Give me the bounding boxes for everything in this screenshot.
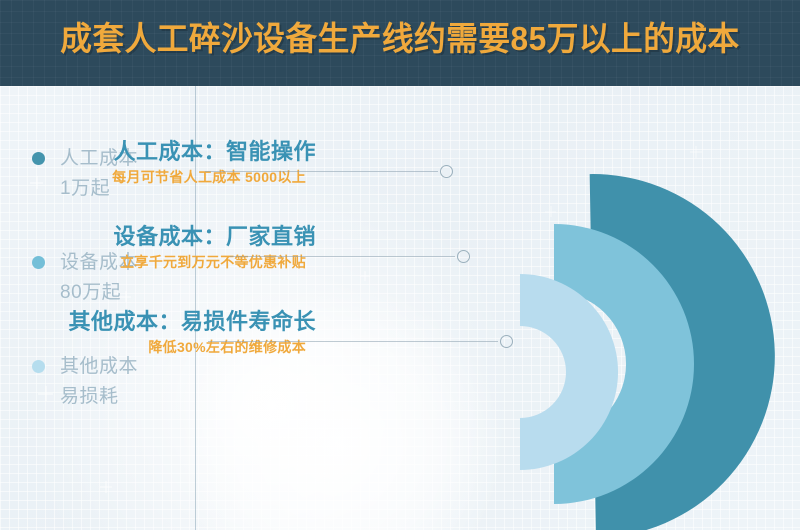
bullet-icon xyxy=(32,360,45,373)
spiral-svg xyxy=(400,86,800,530)
benefit-item-other: 其他成本：易损件寿命长 降低30%左右的维修成本 xyxy=(0,308,370,358)
benefit-title: 人工成本：智能操作 xyxy=(0,138,370,166)
header-banner: 成套人工碎沙设备生产线约需要85万以上的成本 xyxy=(0,0,800,86)
connector-dot-icon xyxy=(500,335,513,348)
spiral-graphic xyxy=(400,86,800,530)
benefit-subtitle: 降低30%左右的维修成本 xyxy=(0,336,370,358)
page-title: 成套人工碎沙设备生产线约需要85万以上的成本 xyxy=(16,17,784,61)
connector-dot-icon xyxy=(440,165,453,178)
connector-dot-icon xyxy=(457,250,470,263)
connector-line xyxy=(208,341,498,342)
sidebar-item-label: 其他成本 易损耗 xyxy=(60,352,192,412)
benefit-item-equipment: 设备成本：厂家直销 立享千元到万元不等优惠补贴 xyxy=(0,223,370,273)
benefit-subtitle: 每月可节省人工成本 5000以上 xyxy=(0,166,370,188)
connector-line xyxy=(230,256,455,257)
benefit-subtitle: 立享千元到万元不等优惠补贴 xyxy=(0,251,370,273)
connector-line xyxy=(205,171,438,172)
benefit-item-labor: 人工成本：智能操作 每月可节省人工成本 5000以上 xyxy=(0,138,370,188)
benefit-title: 设备成本：厂家直销 xyxy=(0,223,370,251)
body-area: 人工成本 1万起 设备成本 80万起 其他成本 易损耗 人工成本：智能操作 每月… xyxy=(0,86,800,530)
footer-slogan: 看红星帮你省钱! xyxy=(222,524,527,530)
sidebar-item-other: 其他成本 易损耗 xyxy=(32,352,192,412)
infographic-poster: 成套人工碎沙设备生产线约需要85万以上的成本 xyxy=(0,0,800,530)
benefit-title: 其他成本：易损件寿命长 xyxy=(0,308,370,336)
sparkle-decoration xyxy=(278,406,290,418)
